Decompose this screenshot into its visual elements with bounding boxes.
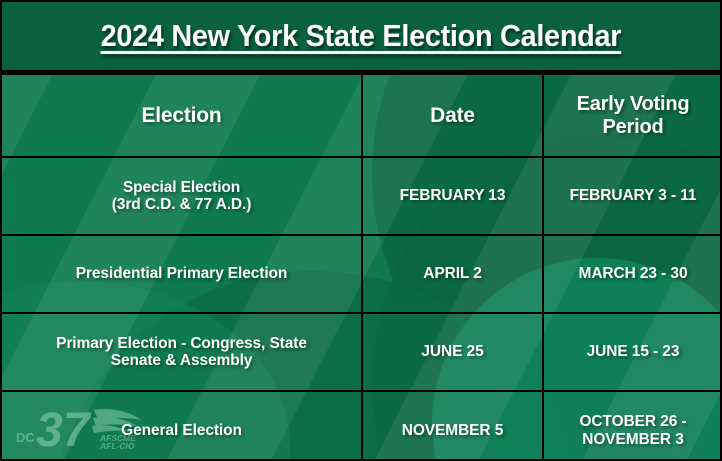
- table-header-row: Election Date Early Voting Period: [1, 74, 722, 157]
- early-voting-line1: OCTOBER 26 -: [579, 413, 686, 430]
- table-row: Presidential Primary Election APRIL 2 MA…: [1, 235, 722, 313]
- cell-early-voting-period: JUNE 15 - 23: [543, 313, 722, 391]
- cell-early-voting-period: OCTOBER 26 - NOVEMBER 3: [543, 391, 722, 461]
- cell-election-date: FEBRUARY 13: [362, 157, 543, 235]
- column-header-early-voting-line2: Period: [602, 116, 663, 138]
- cell-election-date: NOVEMBER 5: [362, 391, 543, 461]
- cell-election-date: JUNE 25: [362, 313, 543, 391]
- election-calendar-table: Election Date Early Voting Period Specia…: [0, 73, 722, 461]
- poster-title-bar: 2024 New York State Election Calendar: [0, 0, 722, 73]
- cell-election-name: Special Election (3rd C.D. & 77 A.D.): [1, 157, 362, 235]
- early-voting-line1: JUNE 15 - 23: [587, 343, 680, 360]
- table-row: Primary Election - Congress, State Senat…: [1, 313, 722, 391]
- cell-early-voting-period: FEBRUARY 3 - 11: [543, 157, 722, 235]
- early-voting-line1: FEBRUARY 3 - 11: [570, 187, 697, 204]
- table-row: Special Election (3rd C.D. & 77 A.D.) FE…: [1, 157, 722, 235]
- early-voting-line2: NOVEMBER 3: [582, 431, 684, 448]
- cell-election-date: APRIL 2: [362, 235, 543, 313]
- cell-election-name: Primary Election - Congress, State Senat…: [1, 313, 362, 391]
- early-voting-line1: MARCH 23 - 30: [579, 265, 688, 282]
- calendar-table-area: DC 37 AFSCME AFL-CIO Election Date: [0, 73, 722, 461]
- column-header-early-voting-line1: Early Voting: [577, 93, 690, 115]
- column-header-early-voting-period: Early Voting Period: [543, 74, 722, 157]
- election-name-line1: Primary Election - Congress, State: [56, 335, 307, 352]
- election-name-line1: Special Election: [123, 179, 240, 196]
- election-name-line2: (3rd C.D. & 77 A.D.): [112, 196, 252, 213]
- table-row: General Election NOVEMBER 5 OCTOBER 26 -…: [1, 391, 722, 461]
- column-header-election: Election: [1, 74, 362, 157]
- column-header-date: Date: [362, 74, 543, 157]
- page-title: 2024 New York State Election Calendar: [101, 18, 622, 54]
- election-name-line2: Senate & Assembly: [111, 352, 253, 369]
- election-calendar-poster: 2024 New York State Election Calendar DC…: [0, 0, 722, 461]
- cell-election-name: General Election: [1, 391, 362, 461]
- election-name-line1: General Election: [121, 422, 242, 439]
- cell-election-name: Presidential Primary Election: [1, 235, 362, 313]
- election-name-line1: Presidential Primary Election: [76, 265, 288, 282]
- cell-early-voting-period: MARCH 23 - 30: [543, 235, 722, 313]
